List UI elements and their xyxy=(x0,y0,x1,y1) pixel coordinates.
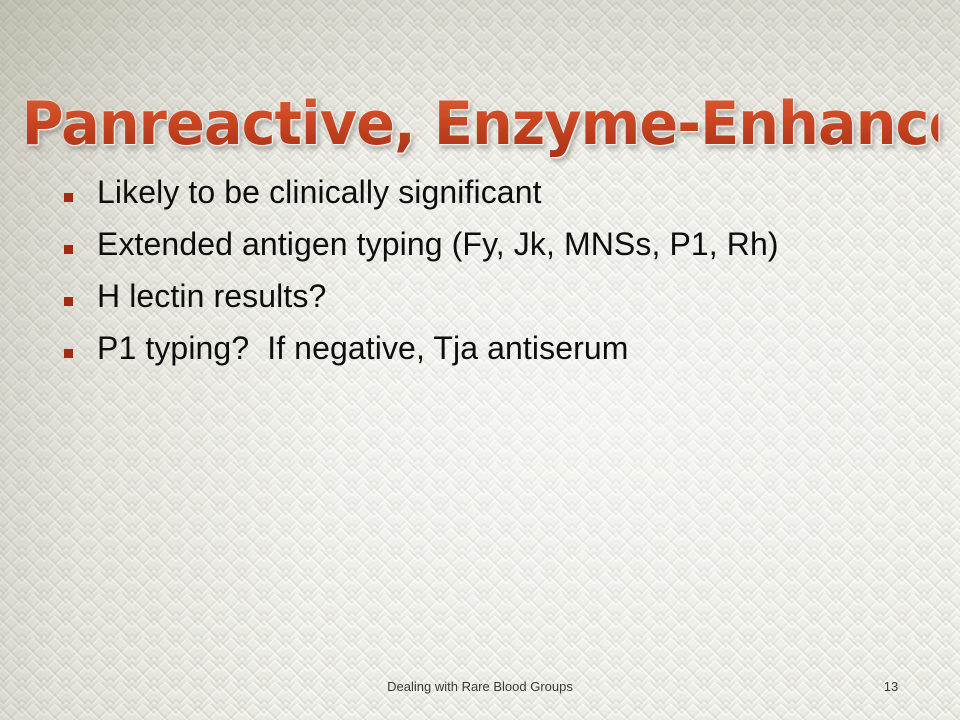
slide-page-number: 13 xyxy=(874,678,908,696)
square-bullet-icon xyxy=(64,349,73,358)
list-item-label: H lectin results? xyxy=(97,274,326,319)
slide-bullet-list: Likely to be clinically significant Exte… xyxy=(60,170,920,378)
list-item-label: Extended antigen typing (Fy, Jk, MNSs, P… xyxy=(97,222,779,267)
list-item: H lectin results? xyxy=(60,274,920,326)
square-bullet-icon xyxy=(64,245,73,254)
list-item: P1 typing? If negative, Tja antiserum xyxy=(60,326,920,378)
square-bullet-icon xyxy=(64,193,73,202)
list-item: Extended antigen typing (Fy, Jk, MNSs, P… xyxy=(60,222,920,274)
list-item-label: P1 typing? If negative, Tja antiserum xyxy=(97,326,629,371)
square-bullet-icon xyxy=(64,297,73,306)
list-item: Likely to be clinically significant xyxy=(60,170,920,222)
slide-title: Panreactive, Enzyme-Enhanced xyxy=(22,88,939,160)
list-item-label: Likely to be clinically significant xyxy=(97,170,542,215)
slide-footer: Dealing with Rare Blood Groups xyxy=(0,678,960,696)
presentation-slide: Panreactive, Enzyme-Enhanced Likely to b… xyxy=(0,0,960,720)
